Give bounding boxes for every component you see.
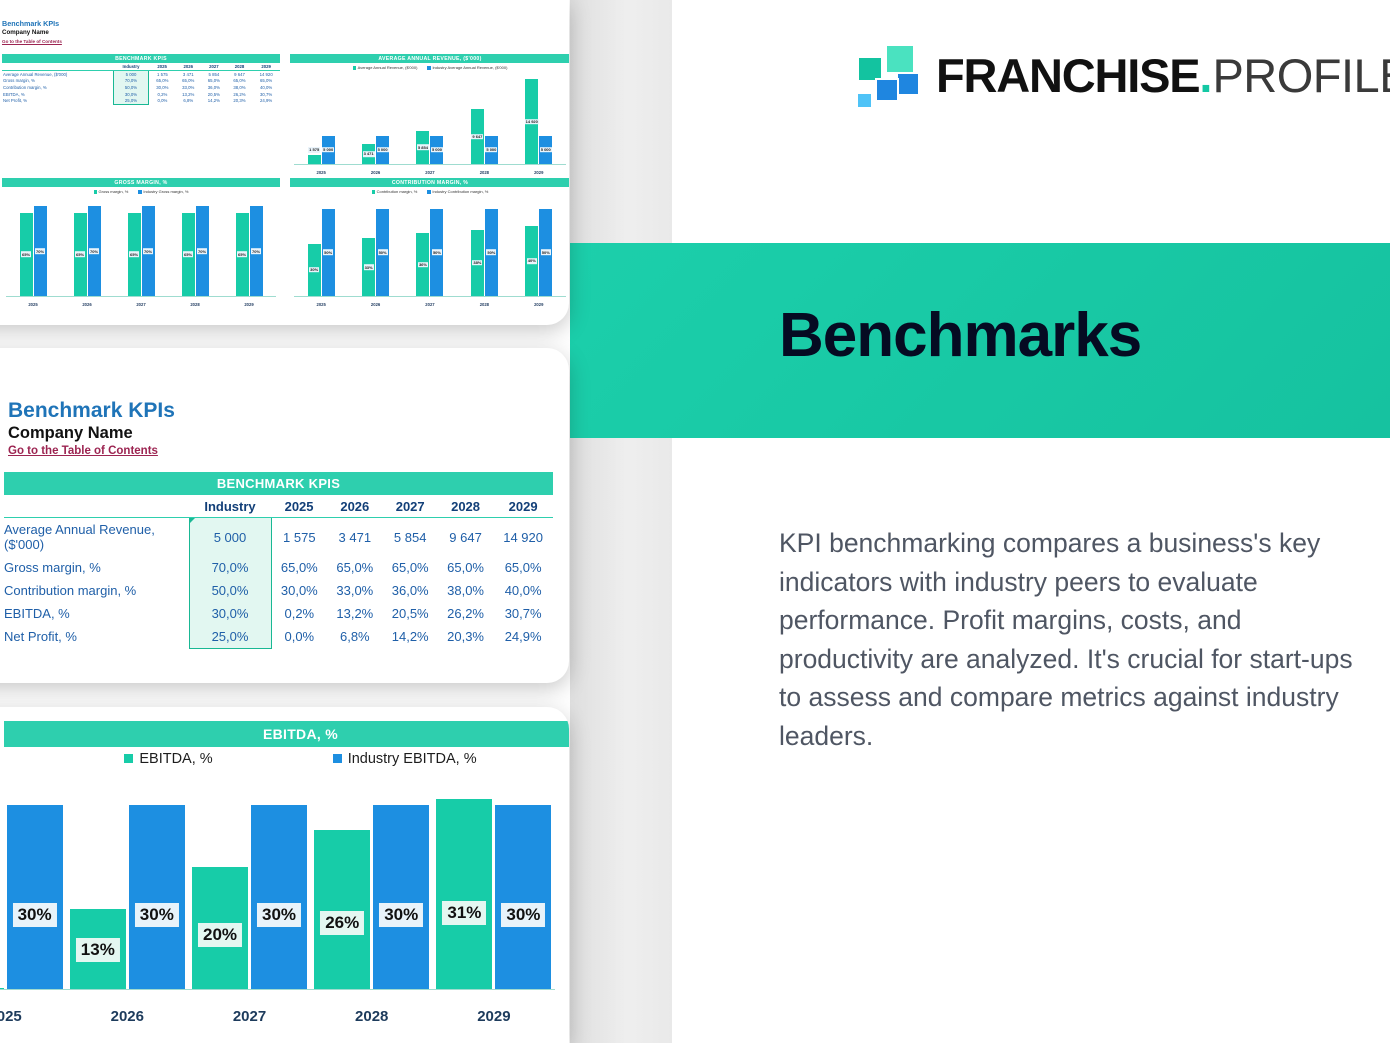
row-label: Net Profit, % [2,97,113,104]
cell-2026: 33,0% [175,84,201,91]
bar-group: 65%70% [182,200,209,296]
mini-sheet-subtitle: Company Name [2,29,49,36]
cell-2025: 30,0% [271,579,327,602]
cell-industry: 5 000 [113,71,149,78]
table-col-industry: Industry [189,495,271,518]
bar-group: 3 4715 000 [362,76,389,164]
table-col-label [2,63,113,71]
cell-industry: 25,0% [189,625,271,649]
bar-industry: 30% [495,805,551,989]
x-tick-label: 2029 [433,1008,555,1025]
bar-value-label: 65% [237,252,247,258]
cell-2026: 3 471 [327,518,382,557]
cell-2029: 14 920 [252,71,280,78]
cell-2028: 9 647 [438,518,493,557]
legend-label: Industry EBITDA, % [348,751,477,767]
bar-value-label: 3 471 [363,151,375,157]
bar-group: 26%30% [311,787,433,989]
bar-industry: 5 000 [376,136,389,164]
bar-value-label: 36% [418,262,428,268]
cell-industry: 50,0% [189,579,271,602]
mini-chart-gross-margin-xaxis: 20252026202720282029 [6,302,276,307]
mini-sheet-title: Benchmark KPIs [2,19,59,28]
bar-value-label: 50% [378,250,388,256]
bar-industry: 50% [485,209,498,296]
cell-2027: 5 854 [383,518,438,557]
mini-chart-gross-margin: GROSS MARGIN, % Gross margin, % Industry… [2,178,280,308]
mini-chart-revenue: AVERAGE ANNUAL REVENUE, ($'000) Average … [290,54,569,176]
legend-label: Contribution margin, % [377,189,418,194]
bar-group: 33%50% [362,200,389,296]
cell-industry: 30,0% [113,91,149,98]
bar-industry: 5 000 [322,136,335,164]
bar-industry: 50% [430,209,443,296]
table-col-2029: 2029 [252,63,280,71]
bar-value-label: 65% [183,252,193,258]
bar-industry: 5 000 [430,136,443,164]
mini-chart-contribution-margin-xaxis: 20252026202720282029 [294,302,566,307]
cell-2029: 65,0% [252,78,280,85]
legend-label: Gross margin, % [99,189,129,194]
cell-industry: 30,0% [189,602,271,625]
legend-label: EBITDA, % [139,751,212,767]
brand-logo: FRANCHISE.PROFILES [853,44,1390,106]
row-label: Contribution margin, % [4,579,189,602]
ebitda-chart-legend: EBITDA, % Industry EBITDA, % [4,751,569,767]
mini-chart-revenue-title: AVERAGE ANNUAL REVENUE, ($'000) [290,54,569,63]
cell-2025: 65,0% [271,556,327,579]
x-tick-label: 2026 [66,1008,188,1025]
x-tick-label: 2026 [362,302,390,307]
bar-group: 65%70% [236,200,263,296]
cell-2027: 5 854 [201,71,227,78]
cell-2028: 38,0% [227,84,253,91]
x-tick-label: 2028 [181,302,209,307]
bar-industry: 30% [7,805,63,989]
bar-group: 9 6475 000 [471,76,498,164]
bar-company: 1 575 [308,155,321,164]
ebitda-chart-title: EBITDA, % [4,721,569,747]
table-row: EBITDA, %30,0%0,2%13,2%20,5%26,2%30,7% [2,91,280,98]
x-tick-label: 2028 [470,302,498,307]
mini-kpi-table-panel: BENCHMARK KPIS Industry20252026202720282… [2,54,280,105]
cell-2026: 6,8% [327,625,382,649]
bar-industry: 70% [34,206,47,296]
legend-label: Industry Contribution margin, % [432,189,488,194]
x-tick-label: 2026 [73,302,101,307]
bar-value-label: 20% [198,923,242,947]
cell-2028: 20,3% [227,97,253,104]
cell-2029: 30,7% [493,602,553,625]
table-row: Average Annual Revenue, ($'000)5 0001 57… [4,518,553,557]
cell-2029: 24,9% [252,97,280,104]
bar-company: 31% [436,799,492,989]
x-tick-label: 2028 [470,170,498,175]
background-right-panel [672,0,1390,1043]
bar-value-label: 1 575 [308,147,320,153]
mini-chart-contribution-margin-legend: Contribution margin, % Industry Contribu… [290,187,569,194]
bar-industry: 70% [250,206,263,296]
cell-industry: 70,0% [113,78,149,85]
logo-text-bold: FRANCHISE [936,49,1199,102]
bar-industry: 30% [129,805,185,989]
table-header-row: Industry20252026202720282029 [4,495,553,518]
cell-2025: 1 575 [271,518,327,557]
bar-value-label: 65% [21,252,31,258]
bar-company: 14 920 [525,79,538,164]
cell-2027: 20,5% [383,602,438,625]
cell-2027: 65,0% [201,78,227,85]
bar-value-label: 33% [364,264,374,270]
table-col-label [4,495,189,518]
cell-2026: 13,2% [327,602,382,625]
table-body: Average Annual Revenue, ($'000)5 0001 57… [4,518,553,649]
mini-chart-contribution-margin-plot: 30%50%33%50%36%50%38%50%40%50% [294,200,566,297]
table-col-2028: 2028 [438,495,493,518]
mini-chart-contribution-margin-title: CONTRIBUTION MARGIN, % [290,178,569,187]
mini-chart-revenue-legend: Average Annual Revenue, ($'000) Industry… [290,63,569,70]
mini-chart-gross-margin-legend: Gross margin, % Industry Gross margin, % [2,187,280,194]
bar-group: 1 5755 000 [308,76,335,164]
bar-value-label: 9 647 [471,134,483,140]
bar-group: 65%70% [74,200,101,296]
x-tick-label: 2027 [127,302,155,307]
cell-2029: 30,7% [252,91,280,98]
page-title: Benchmarks [779,305,1141,367]
bar-value-label: 65% [129,252,139,258]
cell-2028: 65,0% [438,556,493,579]
logo-text-light: PROFILES [1212,49,1390,102]
bar-industry: 30% [373,805,429,989]
x-tick-label: 2027 [188,1008,310,1025]
kpi-table-title: BENCHMARK KPIS [4,472,553,495]
bar-value-label: 50% [323,250,333,256]
bar-company: 26% [314,830,370,989]
logo-text-dot: . [1199,49,1212,102]
bar-value-label: 30% [379,903,423,927]
bar-value-label: 30% [135,903,179,927]
x-tick-label: 2025 [19,302,47,307]
dashboard-card-ebitda-chart: EBITDA, % EBITDA, % Industry EBITDA, % 3… [0,707,569,1043]
logo-wordmark: FRANCHISE.PROFILES [936,52,1390,99]
x-tick-label: 2029 [525,170,553,175]
logo-squares-icon [853,44,919,106]
row-label: Gross margin, % [4,556,189,579]
bar-company: 65% [236,213,249,296]
table-col-2029: 2029 [493,495,553,518]
bar-value-label: 70% [251,248,261,254]
bar-company: 38% [471,230,484,296]
x-tick-label: 2026 [362,170,390,175]
mini-chart-gross-margin-title: GROSS MARGIN, % [2,178,280,187]
bar-value-label: 30% [309,267,319,273]
table-row: EBITDA, %30,0%0,2%13,2%20,5%26,2%30,7% [4,602,553,625]
row-label: Net Profit, % [4,625,189,649]
bar-value-label: 30% [13,903,57,927]
cell-industry: 70,0% [189,556,271,579]
cell-2029: 40,0% [493,579,553,602]
ebitda-chart-axis-line [0,989,555,990]
sheet-subtitle: Company Name [8,424,133,443]
cell-2028: 65,0% [227,78,253,85]
table-col-2028: 2028 [227,63,253,71]
cell-2025: 1 575 [149,71,176,78]
cell-2028: 26,2% [438,602,493,625]
bar-industry: 50% [322,209,335,296]
bar-company: 5 854 [416,131,429,164]
row-label: Average Annual Revenue, ($'000) [2,71,113,78]
bar-industry: 70% [196,206,209,296]
legend-label: Average Annual Revenue, ($'000) [358,65,418,70]
cell-2026: 65,0% [175,78,201,85]
cell-2025: 0,0% [271,625,327,649]
bar-value-label: 65% [75,252,85,258]
x-tick-label: 2027 [416,302,444,307]
bar-value-label: 30% [501,903,545,927]
bar-group: 38%50% [471,200,498,296]
bar-value-label: 50% [432,250,442,256]
x-tick-label: 2025 [307,170,335,175]
cell-2029: 14 920 [493,518,553,557]
background-gray-band [570,0,672,1043]
mini-table-body: Average Annual Revenue, ($'000)5 0001 57… [2,71,280,105]
cell-2026: 3 471 [175,71,201,78]
cell-2027: 36,0% [383,579,438,602]
cell-2028: 9 647 [227,71,253,78]
cell-2029: 24,9% [493,625,553,649]
cell-2025: 65,0% [149,78,176,85]
bar-company: 65% [182,213,195,296]
bar-value-label: 5 000 [431,147,443,153]
bar-group: 14 9205 000 [525,76,552,164]
bar-value-label: 5 000 [540,147,552,153]
row-label: Contribution margin, % [2,84,113,91]
table-row: Contribution margin, %50,0%30,0%33,0%36,… [2,84,280,91]
mini-table-header-row: Industry20252026202720282029 [2,63,280,71]
kpi-table: Industry20252026202720282029 Average Ann… [4,495,553,649]
x-tick-label: 2029 [525,302,553,307]
row-label: EBITDA, % [2,91,113,98]
cell-2028: 38,0% [438,579,493,602]
description-paragraph: KPI benchmarking compares a business's k… [779,524,1357,755]
table-row: Net Profit, %25,0%0,0%6,8%14,2%20,3%24,9… [4,625,553,649]
mini-chart-revenue-plot: 1 5755 0003 4715 0005 8545 0009 6475 000… [294,76,566,165]
cell-2025: 0,2% [271,602,327,625]
cell-2027: 14,2% [201,97,227,104]
legend-label: Industry Average Annual Revenue, ($'000) [432,65,507,70]
bar-value-label: 26% [320,911,364,935]
bar-company: 65% [20,213,33,296]
cell-2028: 26,2% [227,91,253,98]
bar-group: 13%30% [66,787,188,989]
x-tick-label: 2025 [307,302,335,307]
bar-value-label: 70% [143,248,153,254]
bar-industry: 50% [539,209,552,296]
bar-industry: 5 000 [539,136,552,164]
bar-company: 33% [362,238,375,296]
table-col-industry: Industry [113,63,149,71]
bar-value-label: 5 854 [417,145,429,151]
bar-industry: 70% [88,206,101,296]
table-col-2026: 2026 [175,63,201,71]
cell-2025: 0,2% [149,91,176,98]
bar-group: 36%50% [416,200,443,296]
mini-table-title: BENCHMARK KPIS [2,54,280,63]
cell-2026: 65,0% [327,556,382,579]
cell-industry: 50,0% [113,84,149,91]
mini-toc-link[interactable]: Go to the Table of Contents [2,39,62,44]
cell-2027: 36,0% [201,84,227,91]
cell-2028: 20,3% [438,625,493,649]
bar-value-label: 38% [472,260,482,266]
bar-value-label: 70% [197,248,207,254]
bar-company: 13% [70,909,126,989]
bar-company: 9 647 [471,109,484,164]
row-label: EBITDA, % [4,602,189,625]
x-tick-label: 2029 [235,302,263,307]
mini-chart-gross-margin-plot: 65%70%65%70%65%70%65%70%65%70% [6,200,276,297]
bar-group: 65%70% [128,200,155,296]
kpi-table-panel: BENCHMARK KPIS Industry20252026202720282… [4,472,553,649]
bar-company: 3 471 [362,144,375,164]
dashboard-card-kpi-table: Benchmark KPIs Company Name Go to the Ta… [0,348,569,683]
table-row: Gross margin, %70,0%65,0%65,0%65,0%65,0%… [2,78,280,85]
bar-company: 36% [416,233,429,296]
x-tick-label: 2028 [311,1008,433,1025]
table-col-2025: 2025 [271,495,327,518]
bar-value-label: 5 000 [322,147,334,153]
cell-2025: 0,0% [149,97,176,104]
bar-group: 30% [0,787,66,989]
cell-2026: 33,0% [327,579,382,602]
bar-company: 40% [525,226,538,296]
cell-2029: 40,0% [252,84,280,91]
bar-group: 30%50% [308,200,335,296]
cell-2027: 20,5% [201,91,227,98]
table-col-2027: 2027 [201,63,227,71]
bar-value-label: 40% [527,258,537,264]
cell-industry: 25,0% [113,97,149,104]
table-col-2027: 2027 [383,495,438,518]
cell-2029: 65,0% [493,556,553,579]
cell-2026: 13,2% [175,91,201,98]
bar-group: 65%70% [20,200,47,296]
mini-chart-contribution-margin: CONTRIBUTION MARGIN, % Contribution marg… [290,178,569,308]
x-tick-label: 2025 [0,1008,66,1025]
cell-2027: 14,2% [383,625,438,649]
bar-industry: 50% [376,209,389,296]
bar-value-label: 31% [442,901,486,925]
bar-value-label: 5 000 [377,147,389,153]
bar-value-label: 30% [257,903,301,927]
bar-value-label: 50% [486,250,496,256]
ebitda-chart-xaxis: 20252026202720282029 [0,1008,555,1025]
table-row: Contribution margin, %50,0%30,0%33,0%36,… [4,579,553,602]
toc-link[interactable]: Go to the Table of Contents [8,445,158,457]
row-label: Average Annual Revenue, ($'000) [4,518,189,557]
bar-industry: 30% [251,805,307,989]
mini-kpi-table: Industry20252026202720282029 Average Ann… [2,63,280,105]
bar-company: 20% [192,867,248,989]
bar-value-label: 70% [89,248,99,254]
bar-company: 30% [308,244,321,296]
table-row: Net Profit, %25,0%0,0%6,8%14,2%20,3%24,9… [2,97,280,104]
bar-company: 65% [128,213,141,296]
table-row: Average Annual Revenue, ($'000)5 0001 57… [2,71,280,78]
bar-group: 20%30% [188,787,310,989]
dashboard-card-overview: Benchmark KPIs Company Name Go to the Ta… [0,0,569,325]
bar-value-label: 50% [541,250,551,256]
bar-group: 31%30% [433,787,555,989]
x-tick-label: 2027 [416,170,444,175]
bar-industry: 5 000 [485,136,498,164]
cell-industry: 5 000 [189,518,271,557]
bar-group: 5 8545 000 [416,76,443,164]
cell-2027: 65,0% [383,556,438,579]
mini-chart-revenue-xaxis: 20252026202720282029 [294,170,566,175]
sheet-title: Benchmark KPIs [8,399,175,423]
bar-value-label: 70% [35,248,45,254]
bar-company: 65% [74,213,87,296]
legend-label: Industry Gross margin, % [143,189,188,194]
row-label: Gross margin, % [2,78,113,85]
bar-industry: 70% [142,206,155,296]
cell-2026: 6,8% [175,97,201,104]
table-row: Gross margin, %70,0%65,0%65,0%65,0%65,0%… [4,556,553,579]
bar-value-label: 14 920 [525,119,539,125]
cell-2025: 30,0% [149,84,176,91]
table-col-2025: 2025 [149,63,176,71]
bar-group: 40%50% [525,200,552,296]
ebitda-chart-plot: 30%13%30%20%30%26%30%31%30% [0,787,555,989]
bar-value-label: 5 000 [485,147,497,153]
table-col-2026: 2026 [327,495,382,518]
bar-value-label: 13% [76,938,120,962]
